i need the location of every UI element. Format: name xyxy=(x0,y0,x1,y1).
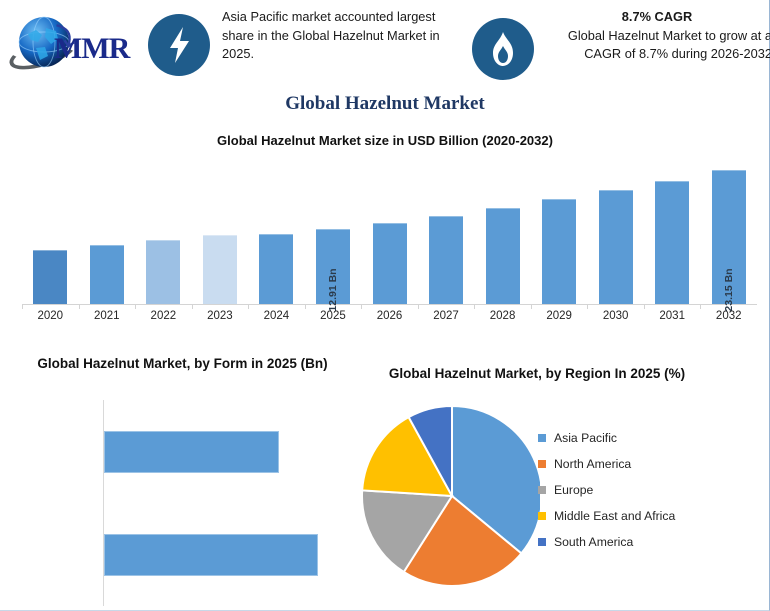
x-axis-label-2025: 2025 xyxy=(307,310,359,322)
axis-tick xyxy=(248,305,249,309)
axis-tick xyxy=(531,305,532,309)
legend-label: Middle East and Africa xyxy=(554,509,675,523)
axis-tick xyxy=(361,305,362,309)
legend-item-middle-east-and-africa[interactable]: Middle East and Africa xyxy=(538,503,768,529)
form-chart-title: Global Hazelnut Market, by Form in 2025 … xyxy=(10,355,355,373)
bar-column xyxy=(542,199,576,304)
bar-column xyxy=(33,250,67,304)
pie-chart-title: Global Hazelnut Market, by Region In 202… xyxy=(372,365,702,383)
x-axis-label-2027: 2027 xyxy=(420,310,472,322)
market-by-region-chart: Global Hazelnut Market, by Region In 202… xyxy=(360,365,770,611)
bar-column xyxy=(203,235,237,304)
bar-2032: 23.15 Bn xyxy=(712,170,746,304)
axis-tick xyxy=(79,305,80,309)
legend-item-asia-pacific[interactable]: Asia Pacific xyxy=(538,425,768,451)
pie-graphic xyxy=(360,401,540,591)
bar-2026 xyxy=(373,223,407,304)
axis-tick xyxy=(644,305,645,309)
legend-swatch-icon xyxy=(538,434,546,442)
x-axis-label-2020: 2020 xyxy=(24,310,76,322)
bar-column xyxy=(599,190,633,304)
header-band: ⤵ MMR Asia Pacific market accounted larg… xyxy=(0,0,770,90)
x-axis-label-2032: 2032 xyxy=(703,310,755,322)
bar-column xyxy=(655,181,689,304)
bar-column xyxy=(429,216,463,304)
bar-2020 xyxy=(33,250,67,304)
legend-item-north-america[interactable]: North America xyxy=(538,451,768,477)
bar-2021 xyxy=(90,245,124,304)
x-axis-label-2026: 2026 xyxy=(364,310,416,322)
cagr-description: Global Hazelnut Market to grow at a CAGR… xyxy=(568,28,770,62)
bar-column xyxy=(146,240,180,304)
page-title: Global Hazelnut Market xyxy=(0,93,770,115)
x-axis-label-2024: 2024 xyxy=(250,310,302,322)
bar-2028 xyxy=(486,208,520,304)
axis-tick xyxy=(22,305,23,309)
axis-tick xyxy=(587,305,588,309)
bar-2031 xyxy=(655,181,689,304)
market-by-form-chart: Global Hazelnut Market, by Form in 2025 … xyxy=(0,355,360,611)
bar-column xyxy=(259,234,293,304)
legend-item-europe[interactable]: Europe xyxy=(538,477,768,503)
x-axis-label-2021: 2021 xyxy=(81,310,133,322)
legend-swatch-icon xyxy=(538,538,546,546)
x-axis-label-2030: 2030 xyxy=(590,310,642,322)
axis-tick xyxy=(474,305,475,309)
bar-value-label: 12.91 Bn xyxy=(327,268,339,311)
legend-label: North America xyxy=(554,457,631,471)
hbar-unroasted xyxy=(104,431,279,473)
legend-swatch-icon xyxy=(538,460,546,468)
bar-column: 12.91 Bn xyxy=(316,229,350,304)
legend-swatch-icon xyxy=(538,512,546,520)
flame-icon xyxy=(472,18,534,80)
legend-label: South America xyxy=(554,535,633,549)
bar-column xyxy=(486,208,520,304)
x-axis-label-2028: 2028 xyxy=(477,310,529,322)
bar-plot-area: 12.91 Bn23.15 Bn xyxy=(22,150,757,305)
axis-tick xyxy=(135,305,136,309)
axis-tick xyxy=(700,305,701,309)
legend-label: Asia Pacific xyxy=(554,431,617,445)
x-axis-label-2031: 2031 xyxy=(646,310,698,322)
axis-tick xyxy=(192,305,193,309)
bar-value-label: 23.15 Bn xyxy=(723,268,735,311)
chart-subtitle: Global Hazelnut Market size in USD Billi… xyxy=(0,133,770,148)
bar-2023 xyxy=(203,235,237,304)
infographic-page: ⤵ MMR Asia Pacific market accounted larg… xyxy=(0,0,770,611)
legend-swatch-icon xyxy=(538,486,546,494)
bar-x-axis xyxy=(22,304,757,305)
axis-tick xyxy=(418,305,419,309)
legend-label: Europe xyxy=(554,483,593,497)
form-plot-area: UnroastedRoasted xyxy=(103,400,343,606)
x-axis-label-2023: 2023 xyxy=(194,310,246,322)
bar-column: 23.15 Bn xyxy=(712,170,746,304)
right-stat-text: 8.7% CAGR Global Hazelnut Market to grow… xyxy=(542,8,770,64)
axis-tick xyxy=(305,305,306,309)
bar-2024 xyxy=(259,234,293,304)
bar-2029 xyxy=(542,199,576,304)
bar-2022 xyxy=(146,240,180,304)
bar-2027 xyxy=(429,216,463,304)
pie-legend: Asia PacificNorth AmericaEuropeMiddle Ea… xyxy=(538,425,768,555)
x-axis-label-2022: 2022 xyxy=(137,310,189,322)
market-size-bar-chart: 12.91 Bn23.15 Bn 20202021202220232024202… xyxy=(22,150,757,335)
left-stat-text: Asia Pacific market accounted largest sh… xyxy=(222,8,452,64)
bar-column xyxy=(373,223,407,304)
bar-2030 xyxy=(599,190,633,304)
logo-text: MMR xyxy=(54,32,129,66)
cagr-headline: 8.7% CAGR xyxy=(542,8,770,27)
x-axis-label-2029: 2029 xyxy=(533,310,585,322)
bar-2025: 12.91 Bn xyxy=(316,229,350,304)
mmr-logo: ⤵ MMR xyxy=(6,10,142,80)
legend-item-south-america[interactable]: South America xyxy=(538,529,768,555)
lightning-bolt-icon xyxy=(148,14,210,76)
bar-column xyxy=(90,245,124,304)
hbar-roasted xyxy=(104,534,318,576)
